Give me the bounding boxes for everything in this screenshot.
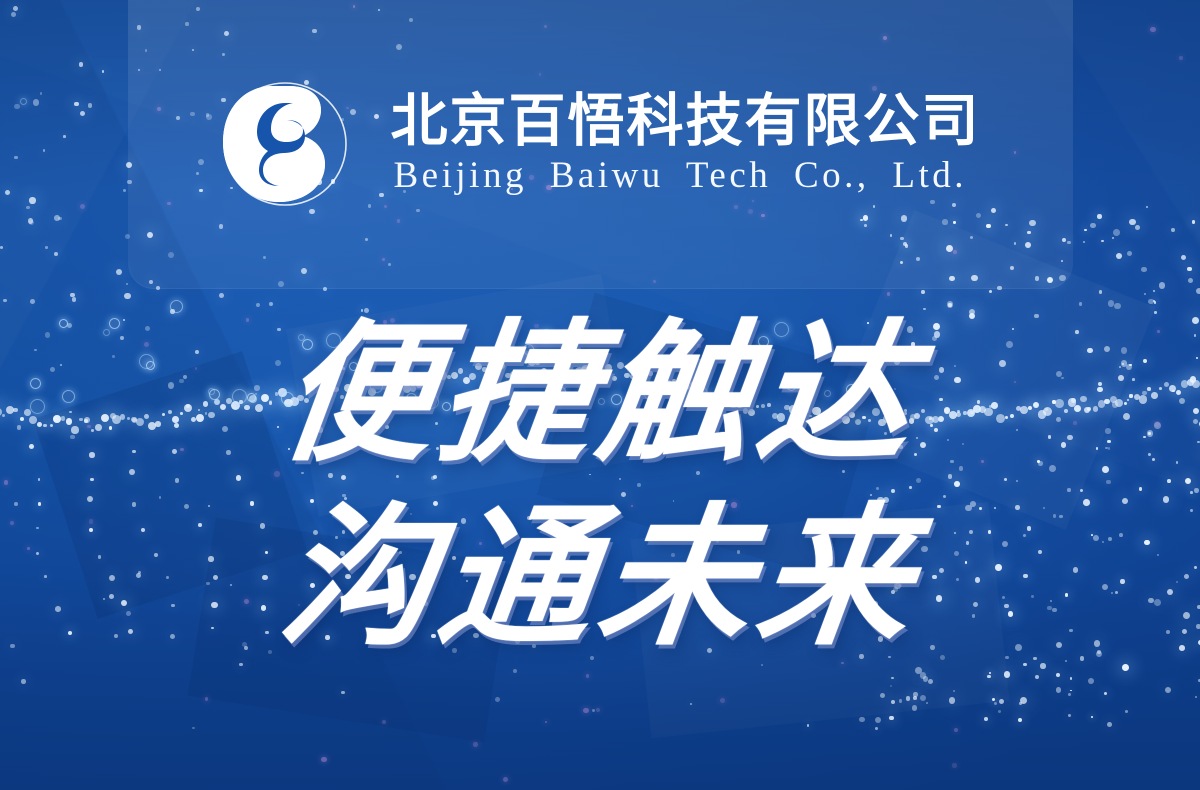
company-name-en: Beijing Baiwu Tech Co., Ltd. [391, 156, 981, 197]
promo-banner: 北京百悟科技有限公司 Beijing Baiwu Tech Co., Ltd. … [0, 0, 1200, 790]
brand-text-block: 北京百悟科技有限公司 Beijing Baiwu Tech Co., Ltd. [391, 90, 981, 197]
company-name-cn: 北京百悟科技有限公司 [391, 90, 981, 154]
baiwu-circle-b-logo-icon [221, 80, 349, 208]
brand-card: 北京百悟科技有限公司 Beijing Baiwu Tech Co., Ltd. [128, 0, 1073, 289]
